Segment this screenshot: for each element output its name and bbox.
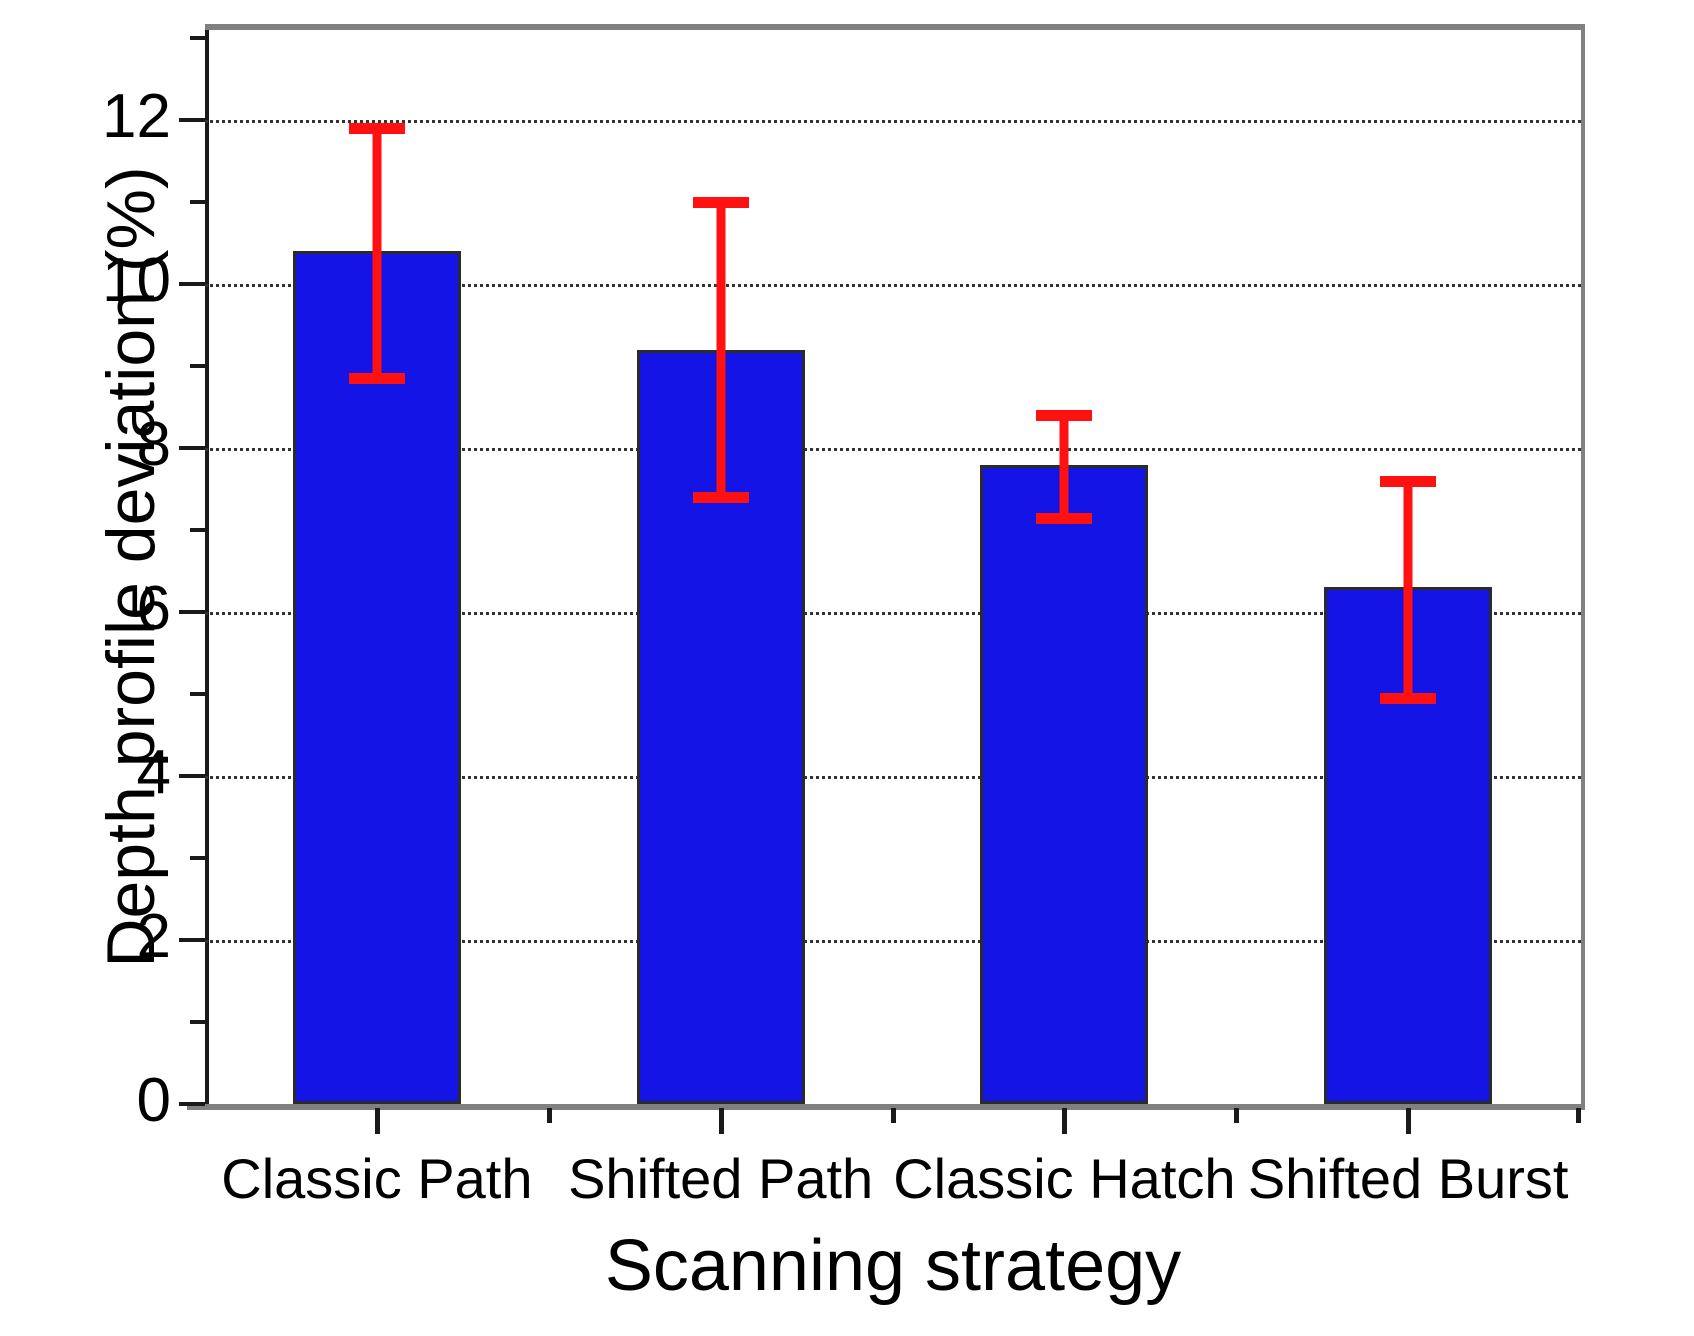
x-tick-label: Classic Path	[221, 1146, 532, 1211]
y-tick-minor	[190, 528, 205, 532]
plot-area: 024681012 Classic PathShifted PathClassi…	[205, 30, 1580, 1104]
x-tick-major	[719, 1108, 724, 1134]
y-tick-minor	[190, 36, 205, 40]
y-tick-major	[179, 446, 205, 450]
x-tick-major	[1062, 1108, 1067, 1134]
error-bar-cap-top	[1036, 410, 1092, 421]
y-tick-minor	[190, 364, 205, 368]
y-tick-minor	[190, 200, 205, 204]
error-bar-cap-bottom	[1036, 513, 1092, 524]
error-bar-cap-bottom	[349, 373, 405, 384]
y-tick-major	[179, 1102, 205, 1106]
bar	[980, 465, 1148, 1104]
axis-line-right	[1581, 24, 1585, 1104]
x-tick-label: Shifted Path	[568, 1146, 873, 1211]
y-tick-minor	[190, 856, 205, 860]
error-bar-line	[1060, 415, 1069, 517]
error-bar-line	[372, 128, 381, 378]
y-tick-major	[179, 282, 205, 286]
error-bar-cap-bottom	[1380, 693, 1436, 704]
y-axis-title: Depth profile deviation (%)	[91, 30, 171, 1104]
x-tick-minor	[1576, 1108, 1581, 1123]
x-tick-minor	[891, 1108, 896, 1123]
y-tick-major	[179, 938, 205, 942]
axis-line-top	[205, 24, 1585, 30]
x-tick-label: Classic Hatch	[893, 1146, 1235, 1211]
x-axis-line	[187, 1104, 1585, 1110]
x-tick-major	[1406, 1108, 1411, 1134]
error-bar-cap-top	[349, 123, 405, 134]
chart-figure: 024681012 Classic PathShifted PathClassi…	[0, 0, 1694, 1336]
error-bar-cap-bottom	[693, 492, 749, 503]
x-axis-title: Scanning strategy	[205, 1225, 1581, 1307]
gridline	[205, 120, 1581, 123]
x-tick-minor	[1234, 1108, 1239, 1123]
y-tick-major	[179, 774, 205, 778]
x-tick-major	[375, 1108, 380, 1134]
y-tick-major	[179, 118, 205, 122]
error-bar-cap-top	[693, 197, 749, 208]
y-tick-minor	[190, 1020, 205, 1024]
error-bar-line	[716, 202, 725, 497]
y-tick-minor	[190, 692, 205, 696]
y-tick-major	[179, 610, 205, 614]
x-tick-minor	[547, 1108, 552, 1123]
x-tick-label: Shifted Burst	[1248, 1146, 1569, 1211]
error-bar-cap-top	[1380, 476, 1436, 487]
error-bar-line	[1404, 481, 1413, 698]
